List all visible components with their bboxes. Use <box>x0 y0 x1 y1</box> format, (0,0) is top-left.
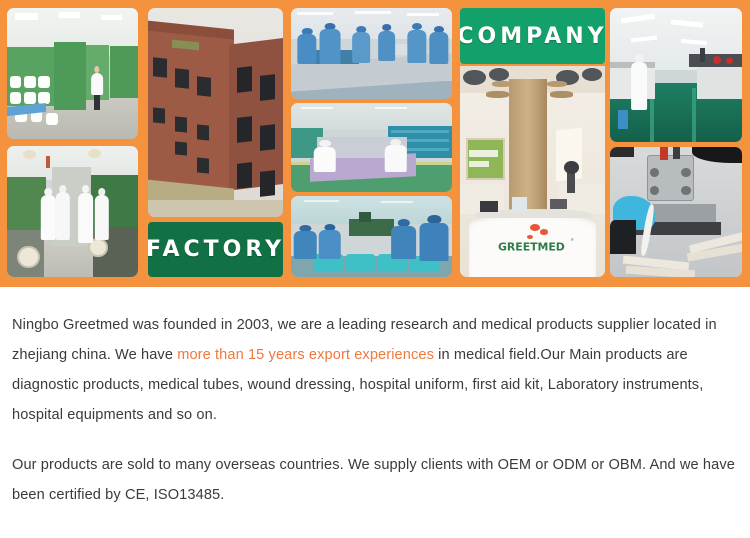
factory-banner: FACTORY <box>148 222 283 277</box>
photo-factory-building <box>148 8 283 217</box>
factory-banner-label: FACTORY <box>148 237 283 262</box>
photo-factory-winding-hall <box>7 8 138 139</box>
photo-tube-assembly-machine <box>610 147 742 277</box>
photo-assembly-tables <box>291 8 452 99</box>
greetmed-logo: GREETMED ® <box>498 233 571 267</box>
photo-production-line-workers <box>7 146 138 277</box>
company-banner: COMPANY <box>460 8 605 64</box>
photo-cleanroom-packing <box>291 103 452 192</box>
photo-cleanroom-bins-line <box>291 196 452 277</box>
paragraph1-highlight: more than 15 years export experiences <box>177 347 434 363</box>
company-banner-label: COMPANY <box>460 24 605 49</box>
description-paragraph-2: Our products are sold to many overseas c… <box>12 450 736 510</box>
description-paragraph-1: Ningbo Greetmed was founded in 2003, we … <box>12 310 736 430</box>
photo-laboratory-corridor <box>610 8 742 142</box>
company-description: Ningbo Greetmed was founded in 2003, we … <box>0 287 750 538</box>
svg-text:GREETMED: GREETMED <box>498 241 565 254</box>
photo-showroom-lobby: GREETMED ® <box>460 66 605 277</box>
company-photo-collage: FACTORY <box>0 0 750 287</box>
